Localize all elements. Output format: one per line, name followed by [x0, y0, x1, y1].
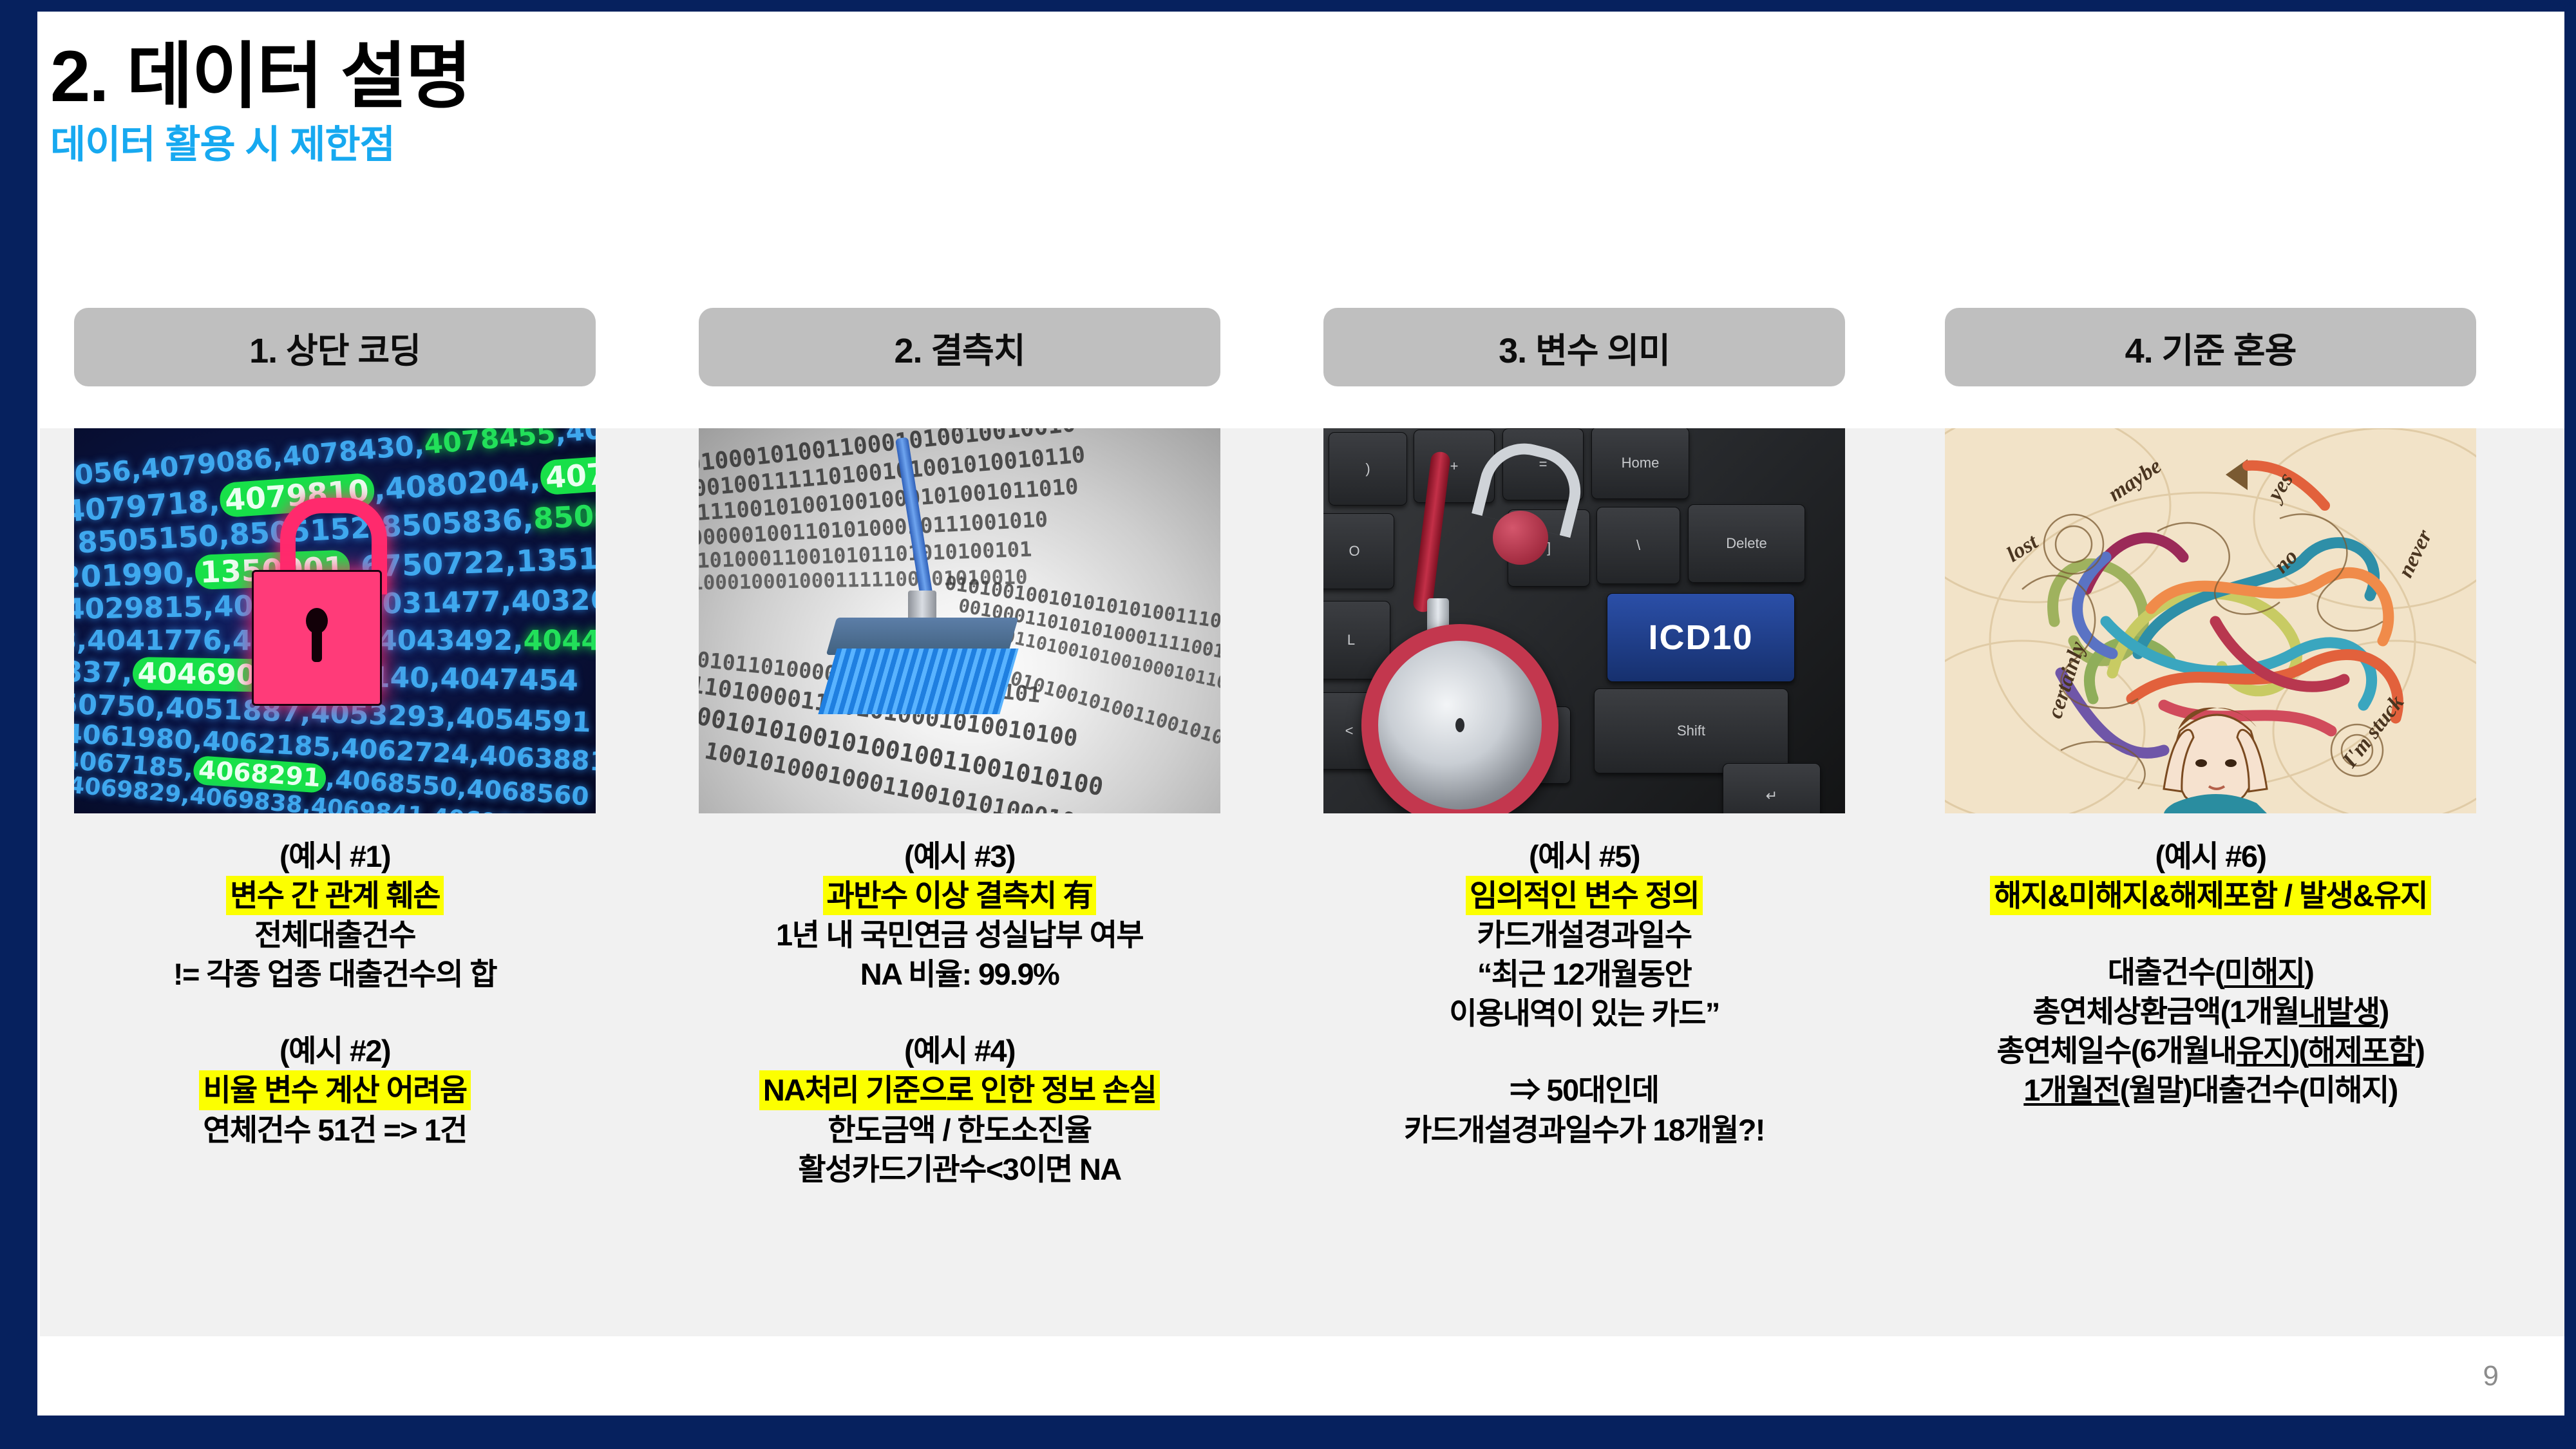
column-headers: 1. 상단 코딩 2. 결측치 3. 변수 의미 4. 기준 혼용: [0, 308, 2576, 386]
conclusion-line: 카드개설경과일수가 18개월?!: [1323, 1110, 1845, 1150]
column-header-3-label: 3. 변수 의미: [1499, 322, 1670, 373]
column-2: 0100010100110001010010010010 00100111110…: [699, 428, 1220, 1189]
example-label-1: (예시 #1): [74, 837, 596, 876]
caption-line: 대출건수(미해지): [1945, 952, 2476, 992]
column-header-2[interactable]: 2. 결측치: [699, 308, 1220, 386]
frame-top-border: [0, 0, 2576, 12]
caption-line: 활성카드기관수<3이면 NA: [699, 1150, 1220, 1189]
column-header-1[interactable]: 1. 상단 코딩: [74, 308, 596, 386]
column-header-4-label: 4. 기준 혼용: [2125, 322, 2297, 373]
stethoscope-icon: [1355, 451, 1567, 754]
title-block: 2. 데이터 설명 데이터 활용 시 제한점: [50, 39, 471, 166]
caption-line: 연체건수 51건 => 1건: [74, 1110, 596, 1150]
caption-line: 이용내역이 있는 카드”: [1323, 994, 1845, 1033]
column-1-caption: (예시 #1) 변수 간 관계 훼손 전체대출건수 != 각종 업종 대출건수의…: [74, 813, 596, 1150]
column-4: maybe yes no never lost certainly I'm st…: [1945, 428, 2476, 1110]
keyboard-stethoscope-image: ) + = Home O ] \ Delete ICD10 L < . / Sh…: [1323, 428, 1845, 813]
page-subtitle: 데이터 활용 시 제한점: [50, 124, 471, 166]
frame-bottom-border: [0, 1416, 2576, 1449]
example-label-2: (예시 #2): [74, 1031, 596, 1070]
caption-line: 카드개설경과일수: [1323, 915, 1845, 954]
broom-icon: [824, 436, 1036, 713]
broom-binary-image: 0100010100110001010010010010 00100111110…: [699, 428, 1220, 813]
caption-line: 총연체상환금액(1개월내발생): [1945, 992, 2476, 1031]
caption-line: “최근 12개월동안: [1323, 954, 1845, 994]
column-header-4[interactable]: 4. 기준 혼용: [1945, 308, 2476, 386]
caption-line: 1년 내 국민연금 성실납부 여부: [699, 915, 1220, 954]
frame-left-border: [0, 0, 37, 1449]
headline-6: 해지&미해지&해제포함 / 발생&유지: [1990, 876, 2431, 915]
tangle-illustration: [1945, 428, 2476, 813]
column-2-caption: (예시 #3) 과반수 이상 결측치 有 1년 내 국민연금 성실납부 여부 N…: [699, 813, 1220, 1189]
headline-4: NA처리 기준으로 인한 정보 손실: [759, 1070, 1160, 1110]
caption-line: != 각종 업종 대출건수의 합: [74, 954, 596, 994]
column-header-3[interactable]: 3. 변수 의미: [1323, 308, 1845, 386]
column-4-image: maybe yes no never lost certainly I'm st…: [1945, 428, 2476, 813]
page-title: 2. 데이터 설명: [50, 39, 471, 115]
example-label-3: (예시 #3): [699, 837, 1220, 876]
example-label-4: (예시 #4): [699, 1031, 1220, 1070]
example-label-5: (예시 #5): [1323, 837, 1845, 876]
frame-right-border: [2564, 0, 2576, 1449]
example-label-6: (예시 #6): [1945, 837, 2476, 876]
conclusion-line: ⇒ 50대인데: [1323, 1070, 1845, 1110]
headline-1: 변수 간 관계 훼손: [226, 876, 444, 915]
caption-line: 1개월전(월말)대출건수(미해지): [1945, 1070, 2476, 1110]
binary-data-wall-image: 0056,4079086,4078430,4078455,40769 40797…: [74, 428, 596, 813]
padlock-icon: [247, 498, 382, 710]
column-3-image: ) + = Home O ] \ Delete ICD10 L < . / Sh…: [1323, 428, 1845, 813]
headline-3: 과반수 이상 결측치 有: [823, 876, 1097, 915]
content-panel: 0056,4079086,4078430,4078455,40769 40797…: [40, 428, 2564, 1336]
column-1: 0056,4079086,4078430,4078455,40769 40797…: [74, 428, 596, 1150]
slide-canvas: 2. 데이터 설명 데이터 활용 시 제한점 1. 상단 코딩 2. 결측치 3…: [0, 0, 2576, 1449]
column-4-caption: (예시 #6) 해지&미해지&해제포함 / 발생&유지 대출건수(미해지) 총연…: [1945, 813, 2476, 1110]
headline-5: 임의적인 변수 정의: [1466, 876, 1703, 915]
caption-line: 전체대출건수: [74, 915, 596, 954]
column-header-1-label: 1. 상단 코딩: [249, 322, 421, 373]
icd10-key: ICD10: [1607, 593, 1795, 682]
tangled-thoughts-image: maybe yes no never lost certainly I'm st…: [1945, 428, 2476, 813]
column-3: ) + = Home O ] \ Delete ICD10 L < . / Sh…: [1323, 428, 1845, 1150]
page-number: 9: [2483, 1360, 2499, 1392]
column-3-caption: (예시 #5) 임의적인 변수 정의 카드개설경과일수 “최근 12개월동안 이…: [1323, 813, 1845, 1150]
headline-2: 비율 변수 계산 어려움: [199, 1070, 470, 1110]
column-2-image: 0100010100110001010010010010 00100111110…: [699, 428, 1220, 813]
caption-line: NA 비율: 99.9%: [699, 954, 1220, 994]
caption-line: 한도금액 / 한도소진율: [699, 1110, 1220, 1150]
column-1-image: 0056,4079086,4078430,4078455,40769 40797…: [74, 428, 596, 813]
column-header-2-label: 2. 결측치: [894, 322, 1025, 373]
caption-line: 총연체일수(6개월내유지)(해제포함): [1945, 1031, 2476, 1070]
